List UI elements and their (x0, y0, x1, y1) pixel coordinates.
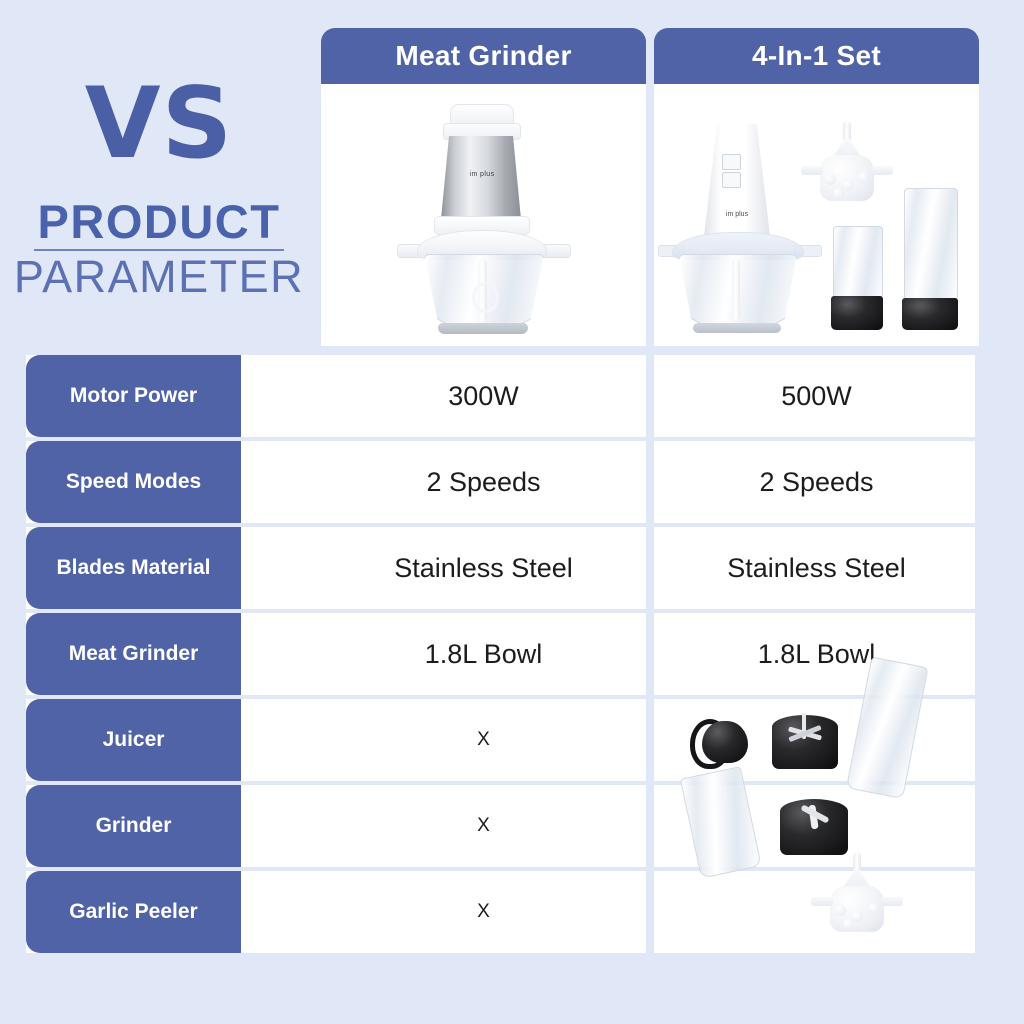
title-line-parameter: PARAMETER (0, 253, 318, 300)
juicer-blade-base-icon (772, 709, 838, 773)
table-row: Garlic Peeler X (0, 871, 1024, 953)
peeler-wing-right-icon (871, 166, 893, 175)
row-label-garlic-peeler: Garlic Peeler (26, 871, 241, 953)
brand-logo-text: im plus (461, 170, 503, 179)
grinder-cup-glass-icon (833, 226, 883, 300)
product-title-2: 4-In-1 Set (654, 28, 979, 84)
peeler-wing-left-icon (801, 166, 823, 175)
cell-juicer-col2 (654, 699, 979, 781)
peeler-row-wing-right-icon (881, 897, 903, 906)
comparison-table: Motor Power 300W 500W Speed Modes 2 Spee… (0, 355, 1024, 957)
row-label-meat-grinder: Meat Grinder (26, 613, 241, 695)
set-button-high-icon (722, 154, 741, 170)
cell-juicer-col1: X (321, 699, 646, 781)
chopper-bowl-base-icon (438, 323, 528, 334)
juicer-cap-icon (690, 713, 750, 769)
cell-garlic-peeler-col2 (654, 871, 979, 953)
row-label-juicer: Juicer (26, 699, 241, 781)
set-bowl-base-icon (693, 323, 781, 333)
juicer-bottle-base-icon (902, 298, 958, 330)
grinder-blade-base-icon (780, 793, 848, 859)
set-chopper-icon: im plus (660, 106, 820, 336)
juicer-bottle-glass-icon (904, 188, 958, 302)
product-image-1: im plus (321, 84, 646, 346)
row-label-blades-material: Blades Material (26, 527, 241, 609)
row-label-motor-power: Motor Power (26, 355, 241, 437)
column-divider (646, 613, 654, 695)
product-title-1: Meat Grinder (321, 28, 646, 84)
product-card-meat-grinder: Meat Grinder im plus (321, 28, 646, 346)
column-divider (646, 785, 654, 867)
peeler-nub-3-icon (858, 172, 869, 183)
peeler-row-nub-2-icon (852, 911, 863, 922)
cell-grinder-col1: X (321, 785, 646, 867)
peeler-nub-1-icon (825, 174, 836, 185)
grinder-cup-body-icon (680, 766, 762, 879)
garlic-peeler-icon (806, 122, 888, 208)
product-card-4in1-set: 4-In-1 Set im plus (654, 28, 979, 346)
peeler-row-nub-3-icon (868, 903, 879, 914)
cell-motor-power-col2: 500W (654, 355, 979, 437)
table-row: Blades Material Stainless Steel Stainles… (0, 527, 1024, 609)
column-divider (646, 441, 654, 523)
peeler-nub-4-icon (833, 188, 844, 199)
column-divider (646, 871, 654, 953)
table-row: Speed Modes 2 Speeds 2 Speeds (0, 441, 1024, 523)
cell-blades-material-col2: Stainless Steel (654, 527, 979, 609)
garlic-peeler-attachment-icon (816, 853, 898, 953)
cell-speed-modes-col1: 2 Speeds (321, 441, 646, 523)
grinder-clear-cup-icon (680, 765, 766, 880)
title-line-product: PRODUCT (0, 197, 318, 246)
chopper-blade-ring-icon (472, 282, 499, 313)
peeler-row-nub-4-icon (843, 919, 854, 930)
cell-meat-grinder-col2: 1.8L Bowl (654, 613, 979, 695)
vs-heading: VS (0, 78, 318, 171)
set-brand-logo-text: im plus (713, 210, 761, 219)
cell-motor-power-col1: 300W (321, 355, 646, 437)
table-row: Motor Power 300W 500W (0, 355, 1024, 437)
title-block: VS PRODUCT PARAMETER (0, 78, 318, 301)
peeler-row-nub-1-icon (835, 905, 846, 916)
column-divider (646, 527, 654, 609)
set-blade-shaft-icon (732, 260, 740, 320)
cell-speed-modes-col2: 2 Speeds (654, 441, 979, 523)
product-image-2: im plus (654, 84, 979, 346)
juicer-bottle-icon (901, 188, 959, 334)
column-divider (646, 355, 654, 437)
set-button-low-icon (722, 172, 741, 188)
cell-blades-material-col1: Stainless Steel (321, 527, 646, 609)
column-divider (646, 699, 654, 781)
cell-meat-grinder-col1: 1.8L Bowl (321, 613, 646, 695)
chopper-icon: im plus (393, 104, 573, 336)
row-label-grinder: Grinder (26, 785, 241, 867)
peeler-row-wing-left-icon (811, 897, 833, 906)
juicer-cap-body-icon (702, 721, 748, 763)
table-row: Juicer X (0, 699, 1024, 781)
grinder-cup-icon (829, 226, 885, 334)
row-label-speed-modes: Speed Modes (26, 441, 241, 523)
cell-garlic-peeler-col1: X (321, 871, 646, 953)
grinder-cup-base-icon (831, 296, 883, 330)
peeler-nub-2-icon (842, 180, 853, 191)
